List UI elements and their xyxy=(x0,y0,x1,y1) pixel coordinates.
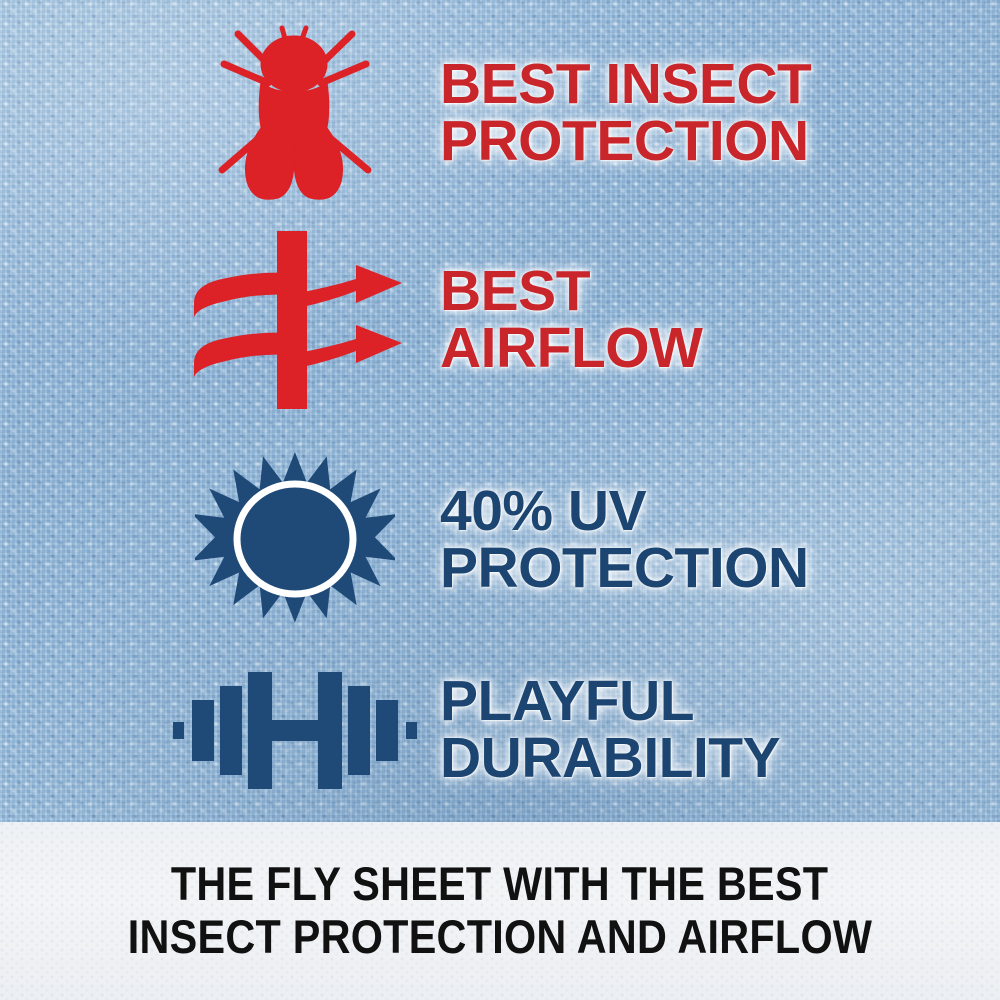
feature-row-uv-protection: 40% UV PROTECTION xyxy=(150,440,990,640)
feature-label-uv-protection: 40% UV PROTECTION xyxy=(440,483,809,597)
feature-row-durability: PLAYFUL DURABILITY xyxy=(150,650,990,810)
feature-label-airflow: BEST AIRFLOW xyxy=(440,263,702,377)
caption-band: THE FLY SHEET WITH THE BEST INSECT PROTE… xyxy=(0,822,1000,1000)
feature-label-insect-protection: BEST INSECT PROTECTION xyxy=(440,56,811,170)
feature-label-durability: PLAYFUL DURABILITY xyxy=(440,673,780,787)
dumbbell-icon-container xyxy=(150,655,440,805)
caption-line-1: THE FLY SHEET WITH THE BEST xyxy=(171,858,828,911)
feature-row-insect-protection: BEST INSECT PROTECTION xyxy=(150,20,990,205)
product-feature-infographic: BEST INSECT PROTECTION BEST AIRFLOW xyxy=(0,0,1000,1000)
airflow-icon-container xyxy=(150,222,440,417)
feature-row-airflow: BEST AIRFLOW xyxy=(150,222,990,417)
dumbbell-icon xyxy=(170,660,420,800)
airflow-icon xyxy=(180,225,410,415)
fly-icon xyxy=(200,20,390,205)
sun-uv-icon xyxy=(195,443,395,638)
caption-line-2: INSECT PROTECTION AND AIRFLOW xyxy=(128,911,872,964)
fly-icon-container xyxy=(150,20,440,205)
sun-uv-icon-container xyxy=(150,440,440,640)
